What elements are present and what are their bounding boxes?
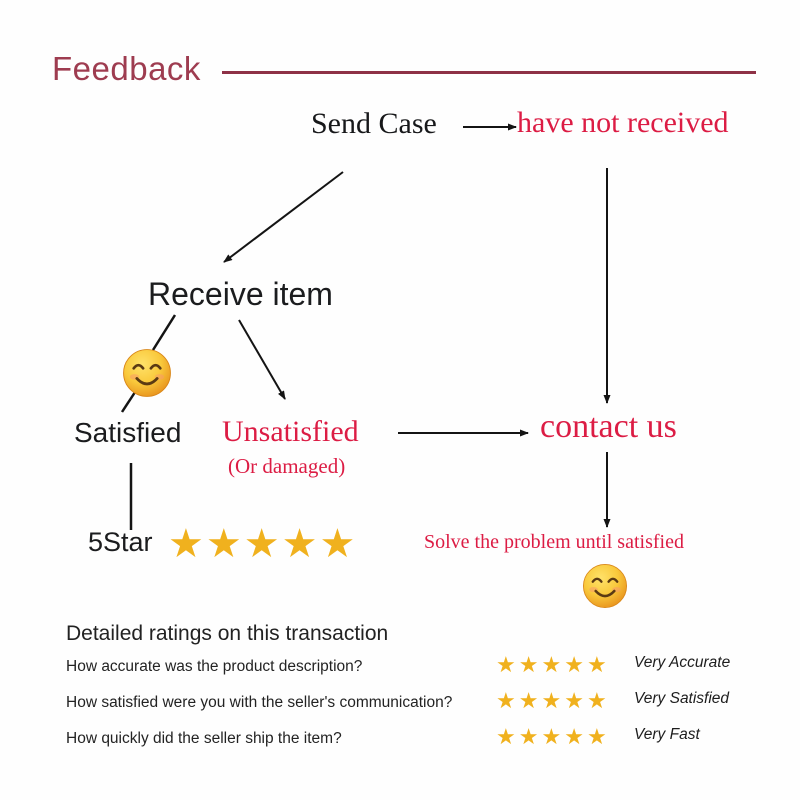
star-icon: ★	[587, 690, 607, 712]
star-icon: ★	[319, 524, 355, 564]
star-icon: ★	[168, 524, 204, 564]
rating-stars-accuracy: ★★★★★	[496, 654, 607, 676]
star-icon: ★	[519, 690, 539, 712]
star-icon: ★	[496, 654, 516, 676]
arrow-receive-item-to-unsatisfied	[239, 320, 285, 399]
rating-row: How accurate was the product description…	[66, 654, 362, 680]
feedback-infographic: Feedback Send Case have not received Rec…	[0, 0, 800, 800]
star-icon: ★	[206, 524, 242, 564]
star-icon: ★	[587, 726, 607, 748]
star-icon: ★	[282, 524, 318, 564]
rating-row: How satisfied were you with the seller's…	[66, 690, 452, 716]
star-icon: ★	[564, 654, 584, 676]
rating-question: How accurate was the product description…	[66, 658, 362, 676]
rating-label: Very Fast	[634, 726, 700, 744]
arrow-send-case-to-receive-item	[224, 172, 343, 262]
star-icon: ★	[244, 524, 280, 564]
smiley-svg	[122, 348, 172, 398]
rating-row: How quickly did the seller ship the item…	[66, 726, 342, 752]
flow-connectors	[0, 0, 800, 800]
star-icon: ★	[564, 690, 584, 712]
rating-question: How satisfied were you with the seller's…	[66, 694, 452, 712]
line-receive-item-to-smiley	[153, 315, 175, 350]
rating-label: Very Satisfied	[634, 690, 729, 708]
rating-stars-shipping: ★★★★★	[496, 726, 607, 748]
rating-question: How quickly did the seller ship the item…	[66, 730, 342, 748]
rating-stars-communication: ★★★★★	[496, 690, 607, 712]
star-icon: ★	[496, 690, 516, 712]
star-icon: ★	[519, 654, 539, 676]
star-icon: ★	[564, 726, 584, 748]
five-star-rating: ★★★★★	[168, 524, 355, 564]
connector-svg	[0, 0, 800, 800]
star-icon: ★	[541, 690, 561, 712]
star-icon: ★	[587, 654, 607, 676]
star-icon: ★	[541, 654, 561, 676]
detailed-ratings-heading: Detailed ratings on this transaction	[66, 622, 388, 646]
star-icon: ★	[496, 726, 516, 748]
star-icon: ★	[541, 726, 561, 748]
smiley-face-icon-satisfied	[122, 348, 172, 398]
rating-label: Very Accurate	[634, 654, 730, 672]
smiley-svg	[582, 563, 628, 609]
star-icon: ★	[519, 726, 539, 748]
smiley-face-icon-solved	[582, 563, 628, 609]
